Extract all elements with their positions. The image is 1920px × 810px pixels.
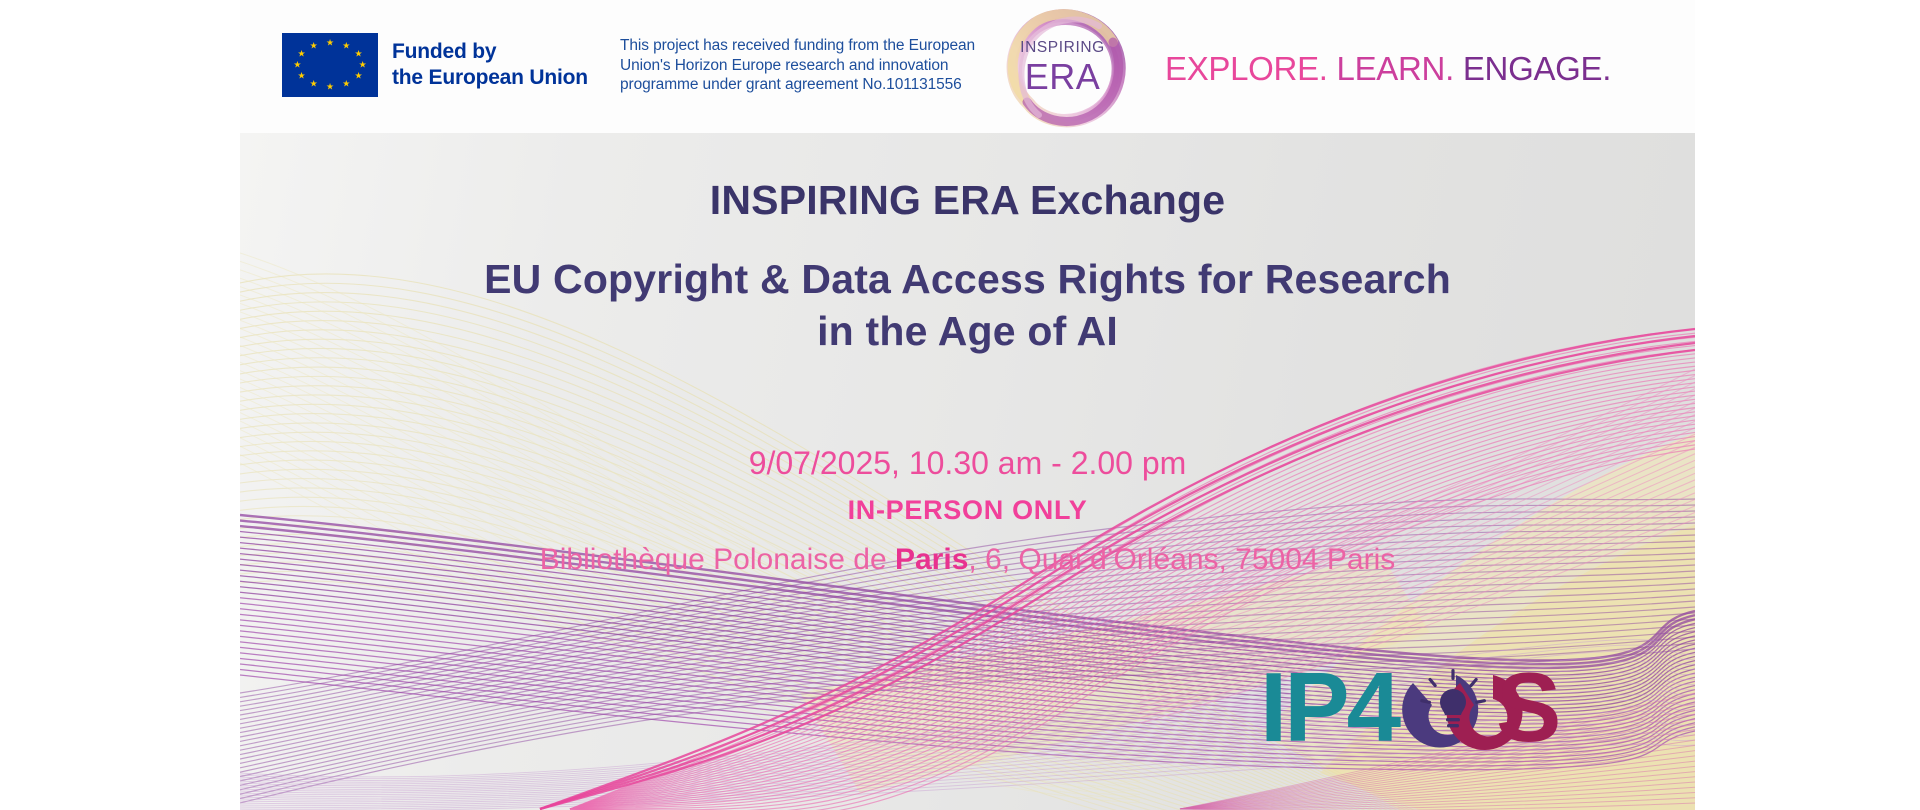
- svg-text:S: S: [1496, 653, 1558, 762]
- venue-prefix: Bibliothèque Polonaise de: [540, 543, 895, 576]
- page-subtitle-line2: in the Age of AI: [240, 305, 1695, 357]
- funding-disclaimer: This project has received funding from t…: [620, 36, 985, 95]
- tagline-word-explore: EXPLORE.: [1165, 50, 1328, 87]
- eu-flag-icon: ★ ★ ★ ★ ★ ★ ★ ★ ★ ★ ★ ★: [282, 33, 378, 97]
- inspiring-era-logo-line1: INSPIRING: [995, 39, 1130, 57]
- venue-highlight: Paris: [895, 543, 968, 576]
- inspiring-era-logo-line2: ERA: [995, 56, 1130, 98]
- presentation-slide: ★ ★ ★ ★ ★ ★ ★ ★ ★ ★ ★ ★ Funded by the Eu…: [0, 0, 1920, 810]
- eu-funding-line1: Funded by: [392, 39, 588, 65]
- event-datetime: 9/07/2025, 10.30 am - 2.00 pm: [240, 445, 1695, 482]
- attendance-mode-badge: IN-PERSON ONLY: [240, 495, 1695, 526]
- slide-body: INSPIRING ERA Exchange EU Copyright & Da…: [240, 133, 1695, 810]
- svg-text:IP4: IP4: [1260, 653, 1401, 762]
- left-margin: [0, 0, 240, 810]
- ip4os-logo-icon: IP4: [1260, 653, 1560, 763]
- tagline: EXPLORE. LEARN. ENGAGE.: [1165, 50, 1611, 88]
- eu-funding-label: Funded by the European Union: [392, 39, 588, 91]
- inspiring-era-logo: INSPIRING ERA: [995, 8, 1130, 130]
- right-margin: [1695, 0, 1920, 810]
- page-subtitle-line1: EU Copyright & Data Access Rights for Re…: [240, 253, 1695, 305]
- event-venue: Bibliothèque Polonaise de Paris, 6, Quai…: [240, 543, 1695, 577]
- page-title: INSPIRING ERA Exchange: [240, 177, 1695, 224]
- tagline-word-learn: LEARN.: [1337, 50, 1454, 87]
- page-subtitle: EU Copyright & Data Access Rights for Re…: [240, 253, 1695, 357]
- eu-funding-line2: the European Union: [392, 65, 588, 91]
- slide-header: ★ ★ ★ ★ ★ ★ ★ ★ ★ ★ ★ ★ Funded by the Eu…: [240, 0, 1695, 133]
- tagline-word-engage: ENGAGE.: [1463, 50, 1611, 87]
- slide-canvas: ★ ★ ★ ★ ★ ★ ★ ★ ★ ★ ★ ★ Funded by the Eu…: [240, 0, 1695, 810]
- ip4os-logo: IP4: [1260, 653, 1560, 763]
- venue-suffix: , 6, Quai d’Orléans, 75004 Paris: [968, 543, 1395, 576]
- eu-funding-logo: ★ ★ ★ ★ ★ ★ ★ ★ ★ ★ ★ ★ Funded by the Eu…: [282, 33, 588, 97]
